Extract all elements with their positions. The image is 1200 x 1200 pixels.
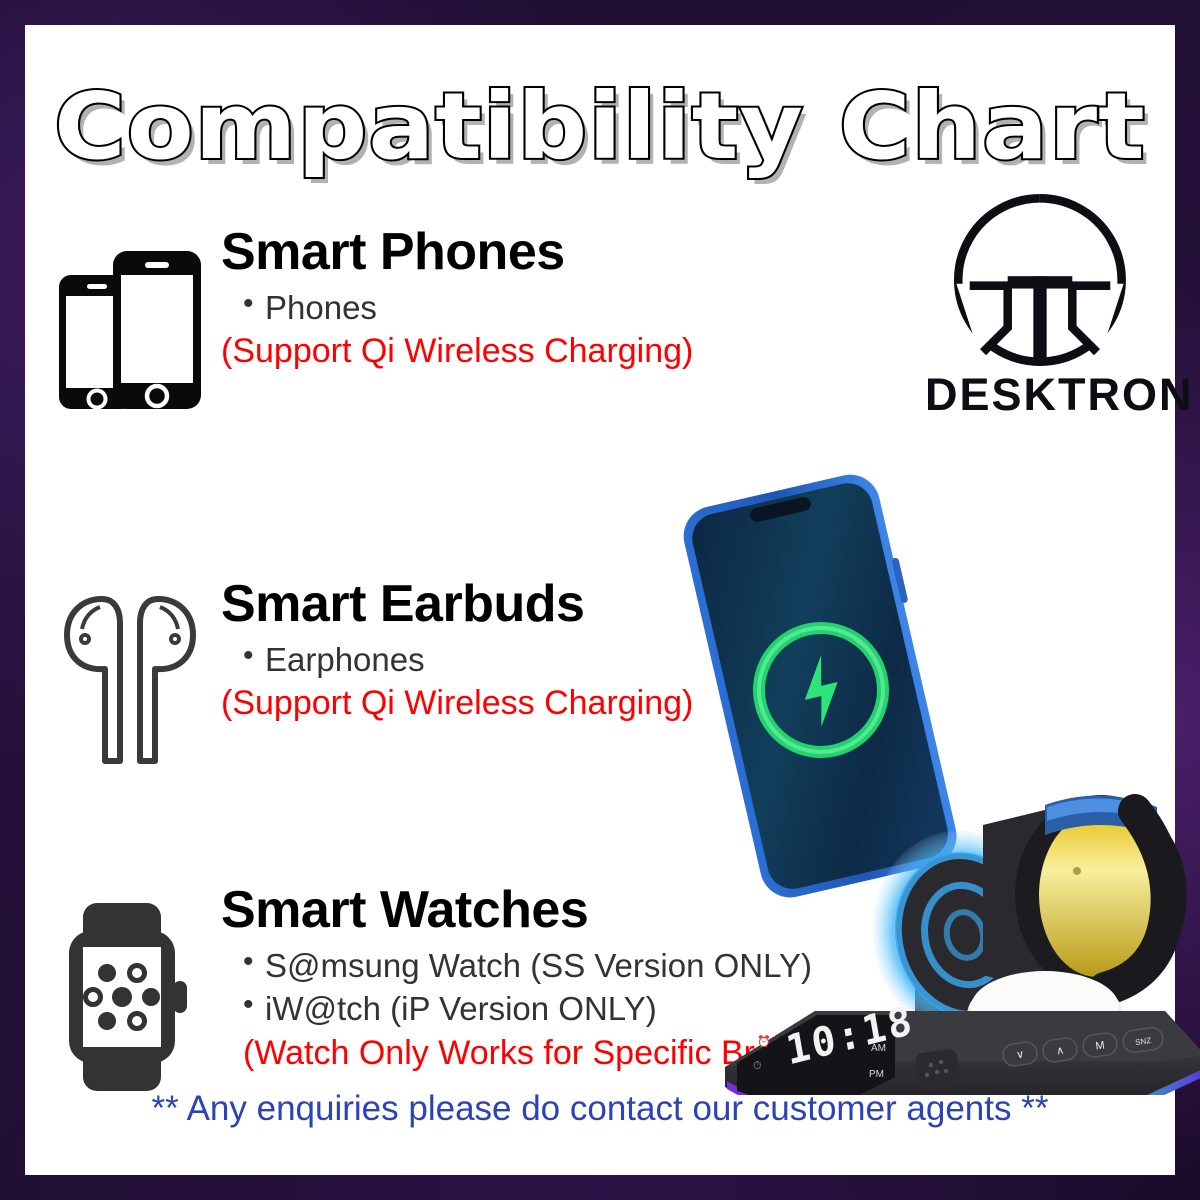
svg-text:∧: ∧ — [1055, 1044, 1065, 1057]
list-item: Earphones — [243, 638, 693, 682]
two-smartphones-icon — [45, 225, 215, 419]
product-base: 10:18 ⏰ ⏱ AM PM — [725, 998, 1200, 1095]
poster-canvas: Compatibility Chart DESKTRON — [25, 25, 1175, 1175]
section-smart-phones: Smart Phones Phones (Support Qi Wireless… — [45, 225, 693, 419]
section-note: (Support Qi Wireless Charging) — [221, 332, 693, 371]
svg-text:AM: AM — [871, 1043, 886, 1054]
brand-wordmark: DESKTRON — [925, 369, 1155, 421]
product-watch — [983, 795, 1187, 995]
poster-background: Compatibility Chart DESKTRON — [0, 0, 1200, 1200]
section-body: Smart Phones Phones (Support Qi Wireless… — [215, 225, 693, 371]
speaker-grille — [915, 1048, 962, 1091]
product-phone — [678, 468, 968, 904]
wireless-earbuds-icon — [45, 577, 215, 771]
section-note: (Support Qi Wireless Charging) — [221, 684, 693, 723]
footer-note: ** Any enquiries please do contact our c… — [25, 1089, 1175, 1129]
section-body: Smart Earbuds Earphones (Support Qi Wire… — [215, 577, 693, 723]
bullet-list: Phones — [221, 286, 693, 330]
desktron-circle-t-logo-icon — [945, 185, 1135, 375]
brand-logo: DESKTRON — [925, 185, 1155, 421]
svg-text:PM: PM — [869, 1069, 884, 1080]
svg-text:⏰: ⏰ — [757, 1034, 771, 1048]
title-container: Compatibility Chart — [25, 73, 1175, 193]
bullet-list: Earphones — [221, 638, 693, 682]
svg-text:∨: ∨ — [1015, 1048, 1025, 1061]
list-item: Phones — [243, 286, 693, 330]
product-image: 10:18 ⏰ ⏱ AM PM — [665, 455, 1200, 1095]
page-title: Compatibility Chart — [54, 73, 1146, 180]
section-title: Smart Earbuds — [221, 577, 693, 632]
svg-text:⏱: ⏱ — [753, 1060, 762, 1072]
section-title: Smart Phones — [221, 225, 693, 280]
svg-text:M: M — [1095, 1039, 1106, 1052]
section-smart-earbuds: Smart Earbuds Earphones (Support Qi Wire… — [45, 577, 693, 771]
smartwatch-icon — [45, 883, 215, 1097]
